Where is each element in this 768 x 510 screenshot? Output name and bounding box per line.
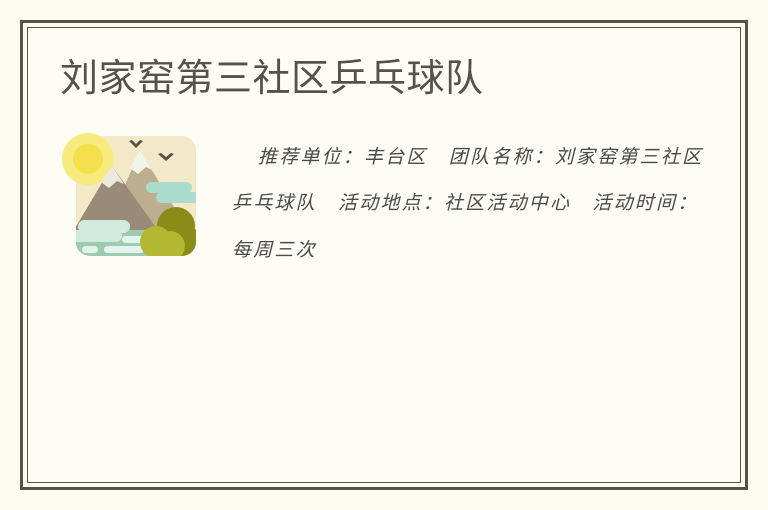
page-title: 刘家窑第三社区乒乓球队	[58, 56, 710, 104]
frame-inner-border: 刘家窑第三社区乒乓球队	[27, 27, 741, 483]
page-root: 刘家窑第三社区乒乓球队	[0, 0, 768, 510]
mountain-landscape-icon	[60, 126, 210, 276]
card-content: 刘家窑第三社区乒乓球队	[28, 28, 740, 482]
